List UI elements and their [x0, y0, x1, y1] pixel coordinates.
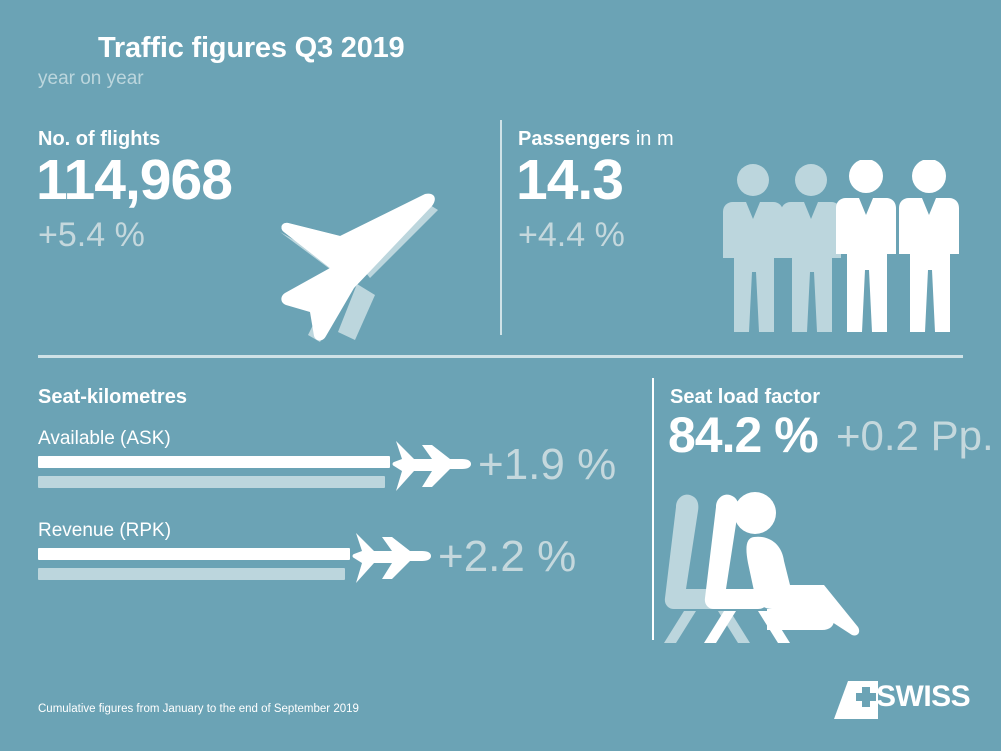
page-title: Traffic figures Q3 2019: [98, 32, 405, 65]
rpk-bar-white: [38, 548, 350, 560]
rpk-label: Revenue (RPK): [38, 520, 171, 542]
horizontal-divider: [38, 355, 963, 358]
vertical-divider-top: [500, 120, 502, 335]
flights-delta: +5.4 %: [38, 218, 145, 252]
ask-label: Available (ASK): [38, 428, 171, 450]
passengers-delta: +4.4 %: [518, 218, 625, 252]
passengers-value: 14.3: [516, 152, 623, 209]
footnote: Cumulative figures from January to the e…: [38, 703, 359, 715]
seated-passenger-icon: [662, 485, 877, 650]
airplane-icon: [262, 192, 452, 352]
page-subtitle: year on year: [38, 68, 144, 90]
flights-value: 114,968: [36, 152, 232, 209]
seat-kilometres-title: Seat-kilometres: [38, 386, 187, 409]
swiss-tailfin-cross-icon: [832, 679, 882, 728]
ask-bar-light: [38, 476, 385, 488]
airplane-icon: [392, 437, 472, 500]
ask-bar-white: [38, 456, 390, 468]
ask-percent: +1.9 %: [478, 443, 616, 487]
airplane-icon: [352, 529, 432, 592]
vertical-divider-bottom: [652, 378, 654, 640]
seat-load-factor-value: 84.2 %: [668, 410, 818, 460]
passengers-label-unit: in m: [630, 128, 673, 150]
seat-load-factor-delta: +0.2 Pp.: [836, 415, 994, 457]
seat-load-factor-label: Seat load factor: [670, 386, 820, 409]
swiss-logo-text: SWISS: [876, 680, 970, 714]
people-icon: [716, 160, 966, 355]
infographic-page: Traffic figures Q3 2019 year on year No.…: [0, 0, 1001, 751]
rpk-percent: +2.2 %: [438, 535, 576, 579]
passengers-label-text: Passengers: [518, 128, 630, 150]
rpk-bar-light: [38, 568, 345, 580]
